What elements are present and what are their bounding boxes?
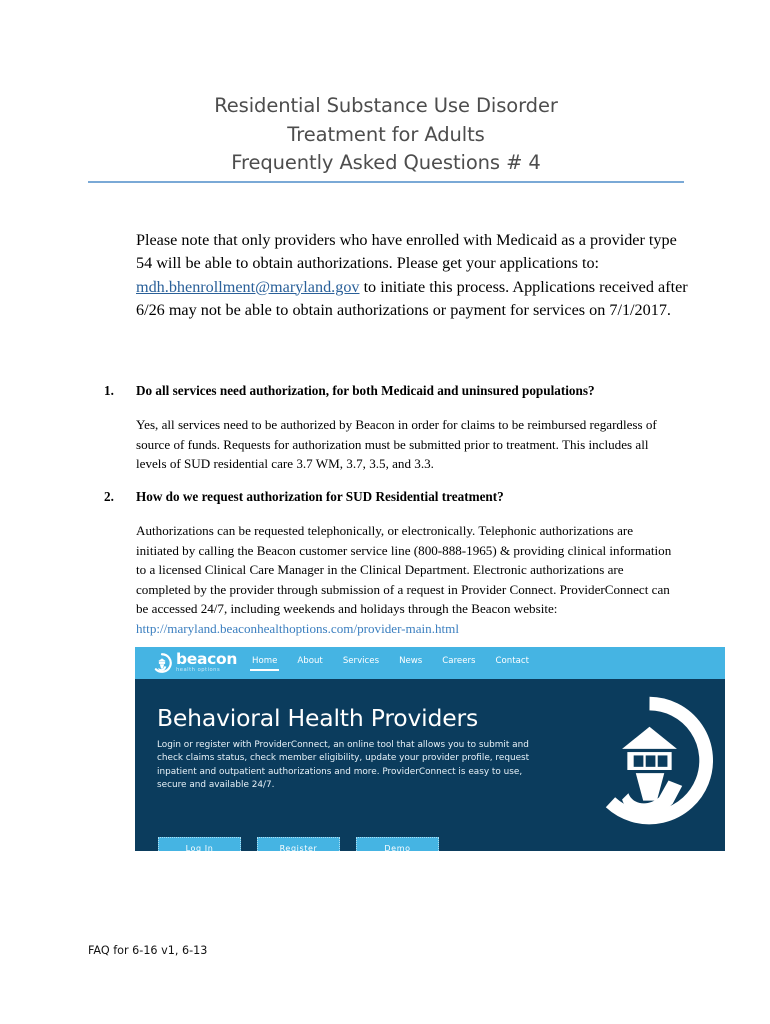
nav-item-careers[interactable]: Careers xyxy=(442,656,475,671)
title-divider xyxy=(88,181,684,183)
embedded-website-screenshot: beacon health options Home About Service… xyxy=(135,647,725,851)
brand-tagline: health options xyxy=(176,667,237,674)
beacon-lighthouse-watermark-icon xyxy=(582,693,717,828)
site-nav-items: Home About Services News Careers Contact xyxy=(252,656,529,671)
title-line-2: Treatment for Adults xyxy=(88,121,684,150)
faq-1-number: 1. xyxy=(104,382,114,399)
hero-button-row: Log In Register Demo xyxy=(158,837,439,851)
page-title: Residential Substance Use Disorder Treat… xyxy=(88,92,684,178)
document-page: Residential Substance Use Disorder Treat… xyxy=(0,0,770,1024)
hero-banner: Behavioral Health Providers Login or reg… xyxy=(135,679,725,851)
hero-title: Behavioral Health Providers xyxy=(157,704,478,732)
beacon-website-link[interactable]: http://maryland.beaconhealthoptions.com/… xyxy=(136,621,459,636)
beacon-logo[interactable]: beacon health options xyxy=(152,650,237,676)
brand-name: beacon xyxy=(176,652,237,667)
faq-question-1: 1. Do all services need authorization, f… xyxy=(0,382,770,399)
nav-item-home[interactable]: Home xyxy=(252,656,277,671)
nav-item-services[interactable]: Services xyxy=(343,656,379,671)
register-button[interactable]: Register xyxy=(257,837,340,851)
hero-description: Login or register with ProviderConnect, … xyxy=(157,739,542,792)
demo-button[interactable]: Demo xyxy=(356,837,439,851)
enrollment-email-link[interactable]: mdh.bhenrollment@maryland.gov xyxy=(136,278,360,296)
faq-1-question-text: Do all services need authorization, for … xyxy=(136,383,595,398)
title-line-3: Frequently Asked Questions # 4 xyxy=(88,149,684,178)
intro-text-before-link: Please note that only providers who have… xyxy=(136,231,677,272)
nav-item-contact[interactable]: Contact xyxy=(496,656,529,671)
nav-item-about[interactable]: About xyxy=(297,656,322,671)
intro-note: Please note that only providers who have… xyxy=(136,229,692,322)
beacon-wordmark: beacon health options xyxy=(176,652,237,674)
title-line-1: Residential Substance Use Disorder xyxy=(88,92,684,121)
faq-question-2: 2. How do we request authorization for S… xyxy=(0,488,770,505)
log-in-button[interactable]: Log In xyxy=(158,837,241,851)
page-footer: FAQ for 6-16 v1, 6-13 xyxy=(88,944,207,957)
nav-item-news[interactable]: News xyxy=(399,656,422,671)
faq-2-number: 2. xyxy=(104,488,114,505)
faq-2-answer: Authorizations can be requested telephon… xyxy=(136,521,676,639)
faq-1-answer: Yes, all services need to be authorized … xyxy=(136,415,676,474)
beacon-lighthouse-icon xyxy=(152,653,172,673)
faq-2-question-text: How do we request authorization for SUD … xyxy=(136,489,504,504)
faq-2-answer-text: Authorizations can be requested telephon… xyxy=(136,523,671,616)
site-navigation-bar: beacon health options Home About Service… xyxy=(135,647,725,679)
